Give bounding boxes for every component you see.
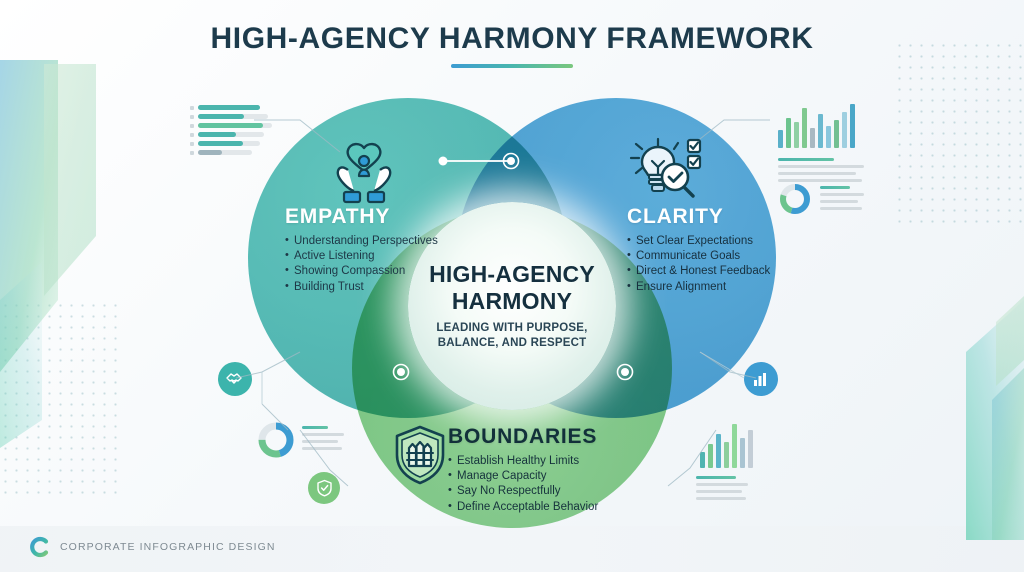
list-item <box>190 132 272 137</box>
shield-check-icon-badge[interactable] <box>308 472 340 504</box>
row-marker <box>190 133 194 137</box>
list-item: Establish Healthy Limits <box>448 454 658 469</box>
center-subtitle-line1: LEADING WITH PURPOSE, <box>436 321 587 336</box>
row-marker <box>190 106 194 110</box>
bar-chart-icon-badge[interactable] <box>744 362 778 396</box>
donut-chart-widget <box>256 420 296 460</box>
bar-chart-widget <box>700 424 753 468</box>
center-title-line2: HARMONY <box>452 288 572 314</box>
dot-grid-pattern-right <box>894 40 1024 230</box>
row-marker <box>190 124 194 128</box>
bar-chart <box>700 424 753 468</box>
bar-chart-widget <box>778 104 855 148</box>
list-item: Define Acceptable Behavior <box>448 500 658 515</box>
list-item: Active Listening <box>285 249 440 264</box>
lobe-empathy-heading: EMPATHY <box>285 205 440 229</box>
lightbulb-magnifier-checklist-icon <box>626 134 710 206</box>
lobe-empathy-list: Understanding Perspectives Active Listen… <box>285 234 440 295</box>
handshake-icon <box>225 369 245 389</box>
lobe-empathy: EMPATHY Understanding Perspectives Activ… <box>285 205 440 295</box>
progress-track <box>198 132 264 137</box>
progress-track <box>198 123 272 128</box>
progress-track <box>198 141 260 146</box>
lobe-boundaries-list: Establish Healthy Limits Manage Capacity… <box>448 454 658 515</box>
center-subtitle-line2: BALANCE, AND RESPECT <box>438 336 587 351</box>
list-item: Communicate Goals <box>627 249 797 264</box>
progress-list-widget <box>190 105 272 159</box>
list-item: Understanding Perspectives <box>285 234 440 249</box>
text-lines-widget <box>820 186 864 210</box>
list-item: Building Trust <box>285 280 440 295</box>
lobe-boundaries-heading: BOUNDARIES <box>448 425 658 449</box>
lobe-clarity-heading: CLARITY <box>627 205 797 229</box>
progress-track <box>198 150 252 155</box>
list-item: Say No Respectfully <box>448 484 658 499</box>
page-title-block: HIGH-AGENCY HARMONY FRAMEWORK <box>0 22 1024 68</box>
lobe-boundaries: BOUNDARIES Establish Healthy Limits Mana… <box>448 425 658 515</box>
list-item: Manage Capacity <box>448 469 658 484</box>
center-title-line1: HIGH-AGENCY <box>429 261 595 287</box>
lobe-clarity: CLARITY Set Clear Expectations Communica… <box>627 205 797 295</box>
row-marker <box>190 142 194 146</box>
row-marker <box>190 151 194 155</box>
text-lines-widget <box>696 476 748 500</box>
list-item <box>190 141 272 146</box>
lobe-clarity-list: Set Clear Expectations Communicate Goals… <box>627 234 797 295</box>
list-item <box>190 114 272 119</box>
dot-grid-pattern-left <box>0 300 120 500</box>
list-item <box>190 123 272 128</box>
caring-hands-heart-icon <box>318 140 410 206</box>
list-item: Ensure Alignment <box>627 280 797 295</box>
shield-check-icon <box>316 479 333 497</box>
progress-track <box>198 114 268 119</box>
shield-fence-icon <box>392 424 448 486</box>
text-lines-widget <box>302 426 344 450</box>
c-monogram-logo <box>28 536 50 558</box>
row-marker <box>190 115 194 119</box>
list-item <box>190 150 272 155</box>
bar-chart-icon <box>752 370 770 388</box>
page-title: HIGH-AGENCY HARMONY FRAMEWORK <box>0 22 1024 56</box>
list-item: Showing Compassion <box>285 264 440 279</box>
text-lines-widget <box>778 158 864 182</box>
progress-track <box>198 105 260 110</box>
title-underline <box>451 64 573 68</box>
footer-label: CORPORATE INFOGRAPHIC DESIGN <box>60 541 276 553</box>
footer: CORPORATE INFOGRAPHIC DESIGN <box>28 536 276 558</box>
bar-chart <box>778 104 855 148</box>
infographic-canvas: HIGH-AGENCY HARMONY FRAMEWORK HIGH-AGENC… <box>0 0 1024 572</box>
list-item <box>190 105 272 110</box>
list-item: Set Clear Expectations <box>627 234 797 249</box>
list-item: Direct & Honest Feedback <box>627 264 797 279</box>
handshake-icon-badge[interactable] <box>218 362 252 396</box>
